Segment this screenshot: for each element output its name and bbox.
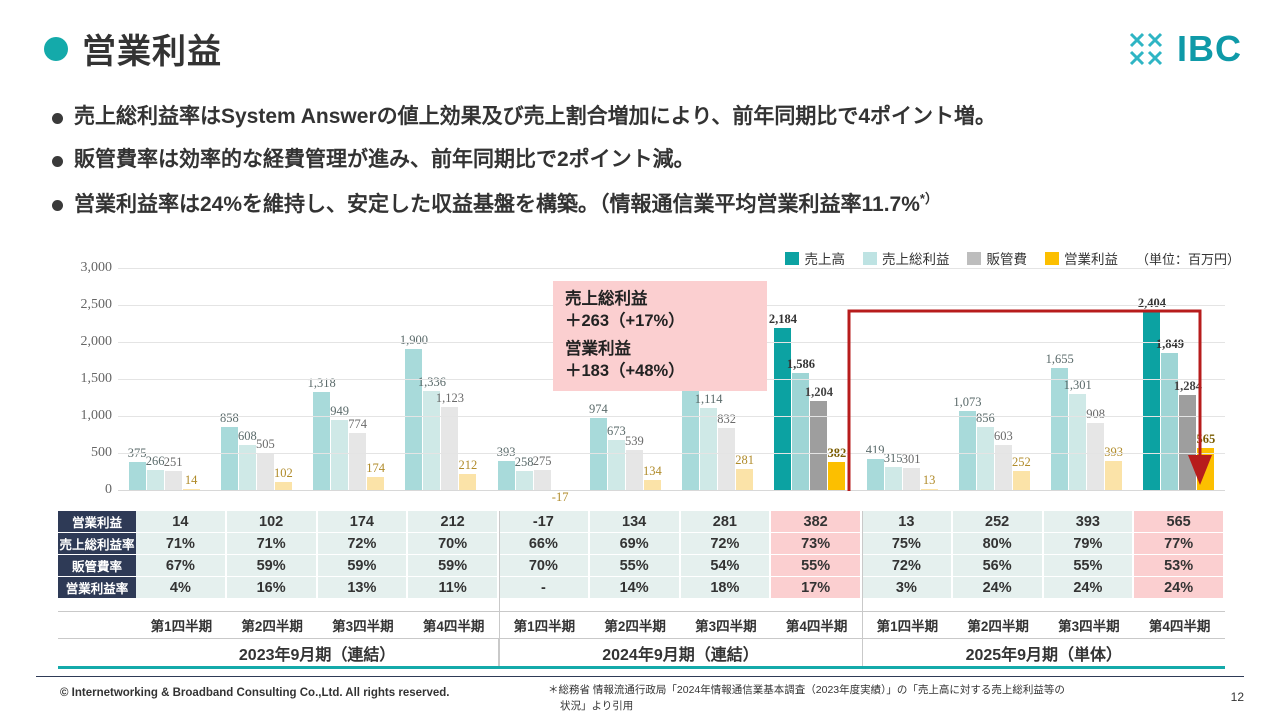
table-row: 営業利益14102174212-1713428138213252393565: [58, 511, 1225, 533]
ibc-logo-mark-icon: [1123, 26, 1169, 72]
bar-value-label: 13: [923, 473, 936, 488]
bar-営業利益[interactable]: 134: [644, 480, 661, 490]
logo-text: IBC: [1177, 28, 1242, 70]
gridline: [118, 416, 1225, 417]
page-title: 営業利益: [44, 24, 222, 73]
table-cell: 71%: [136, 533, 227, 555]
bar-営業利益[interactable]: 212: [459, 474, 476, 490]
fiscal-period-label: 2023年9月期（連結）: [136, 639, 499, 667]
legend-swatch-sga: [967, 252, 981, 265]
table-row: 営業利益率4%16%13%11%-14%18%17%3%24%24%24%: [58, 577, 1225, 599]
table-cell: 56%: [953, 555, 1044, 577]
bar-販管費[interactable]: 1,123: [441, 407, 458, 490]
table-row-header: 営業利益: [58, 511, 136, 533]
quarter-label: 第2四半期: [227, 612, 318, 638]
quarter-label: 第2四半期: [953, 612, 1044, 638]
legend-swatch-operating-profit: [1045, 252, 1059, 265]
table-cell: 59%: [227, 555, 318, 577]
y-axis-tick: 2,000: [81, 334, 113, 350]
table-cell: 18%: [681, 577, 772, 599]
bar-value-label: 1,123: [436, 391, 464, 406]
bullet-item-1: 売上総利益率はSystem Answerの値上効果及び売上割合増加により、前年同…: [52, 104, 1252, 130]
quarter-label: 第4四半期: [408, 612, 499, 638]
table-cell: 53%: [1134, 555, 1225, 577]
y-axis-tick: 1,000: [81, 408, 113, 424]
bar-value-label: 603: [994, 429, 1013, 444]
table-cell: 66%: [499, 533, 590, 555]
table-cell: 13%: [318, 577, 409, 599]
axis-baseline: [58, 666, 1225, 669]
bullet-text-3: 営業利益率は24%を維持し、安定した収益基盤を構築。（情報通信業平均営業利益率1…: [74, 191, 938, 218]
bar-売上総利益[interactable]: 258: [516, 471, 533, 490]
bar-value-label: 275: [533, 454, 552, 469]
legend-item-gross-profit: 売上総利益: [863, 248, 950, 268]
bar-売上総利益[interactable]: 673: [608, 440, 625, 490]
callout-line-1: 売上総利益: [565, 288, 755, 310]
bar-value-label: 1,849: [1156, 337, 1184, 352]
bar-売上高[interactable]: 1,073: [959, 411, 976, 490]
bar-売上総利益[interactable]: 1,114: [700, 408, 717, 490]
table-cell: 67%: [136, 555, 227, 577]
table-cell: 75%: [862, 533, 953, 555]
table-cell: 79%: [1044, 533, 1135, 555]
bar-販管費[interactable]: 251: [165, 471, 182, 490]
table-cell: 382: [771, 511, 862, 533]
bar-value-label: 774: [348, 417, 367, 432]
bar-営業利益[interactable]: 14: [183, 489, 200, 491]
page-number: 12: [1231, 690, 1244, 704]
period-axis: 第1四半期第2四半期第3四半期第4四半期第1四半期第2四半期第3四半期第4四半期…: [58, 611, 1225, 667]
bullet-dot-icon: [52, 200, 63, 211]
bar-営業利益[interactable]: 174: [367, 477, 384, 490]
bar-value-label: 539: [625, 434, 644, 449]
bar-営業利益[interactable]: 281: [736, 469, 753, 490]
bullet-dot-icon: [52, 156, 63, 167]
quarter-label: 第1四半期: [136, 612, 227, 638]
table-cell: 4%: [136, 577, 227, 599]
quarter-label: 第1四半期: [499, 612, 590, 638]
bar-value-label: 832: [717, 412, 736, 427]
bar-value-label: 174: [366, 461, 385, 476]
bullet-item-2: 販管費率は効率的な経費管理が進み、前年同期比で2ポイント減。: [52, 147, 1252, 173]
table-cell: 55%: [771, 555, 862, 577]
bar-営業利益[interactable]: 393: [1105, 461, 1122, 490]
table-cell: 59%: [318, 555, 409, 577]
table-cell: 80%: [953, 533, 1044, 555]
source-note: ＊総務省 情報流通行政局「2024年情報通信業基本調査（2023年度実績）」の「…: [548, 683, 1178, 715]
table-cell: -17: [499, 511, 590, 533]
bar-value-label: 419: [866, 443, 885, 458]
bar-売上高[interactable]: 1,318: [313, 392, 330, 490]
quarter-label-row: 第1四半期第2四半期第3四半期第4四半期第1四半期第2四半期第3四半期第4四半期…: [58, 611, 1225, 638]
table-cell: 102: [227, 511, 318, 533]
y-axis-tick: 0: [105, 482, 112, 498]
table-cell: 72%: [681, 533, 772, 555]
table-cell: 393: [1044, 511, 1135, 533]
bar-value-label: 565: [1197, 432, 1216, 447]
bullet-text-2: 販管費率は効率的な経費管理が進み、前年同期比で2ポイント減。: [74, 147, 695, 173]
bar-売上高[interactable]: 2,184: [774, 328, 791, 490]
bar-売上総利益[interactable]: 608: [239, 445, 256, 490]
callout-line-4: ＋183（+48%）: [565, 360, 755, 382]
bar-value-label: 1,586: [787, 357, 815, 372]
bar-value-label: 505: [256, 437, 275, 452]
bar-売上総利益[interactable]: 1,301: [1069, 394, 1086, 490]
table-row: 販管費率67%59%59%59%70%55%54%55%72%56%55%53%: [58, 555, 1225, 577]
quarter-label: 第3四半期: [1044, 612, 1135, 638]
table-cell: 72%: [318, 533, 409, 555]
table-row: 売上総利益率71%71%72%70%66%69%72%73%75%80%79%7…: [58, 533, 1225, 555]
source-note-line-1: ＊総務省 情報流通行政局「2024年情報通信業基本調査（2023年度実績）」の「…: [548, 683, 1178, 699]
bar-value-label: 212: [459, 458, 478, 473]
table-cell: 14: [136, 511, 227, 533]
y-axis-tick: 2,500: [81, 297, 113, 313]
table-cell: 77%: [1134, 533, 1225, 555]
bar-売上高[interactable]: 1,900: [405, 349, 422, 490]
table-cell: 70%: [408, 533, 499, 555]
callout-line-2: ＋263（+17%）: [565, 310, 755, 332]
legend-label-gross-profit: 売上総利益: [882, 248, 950, 268]
table-cell: 72%: [862, 555, 953, 577]
bar-販管費[interactable]: 832: [718, 428, 735, 490]
y-axis-tick: 1,500: [81, 371, 113, 387]
table-cell: 73%: [771, 533, 862, 555]
quarter-label: 第4四半期: [771, 612, 862, 638]
bullet-dot-icon: [52, 113, 63, 124]
bar-売上総利益[interactable]: 1,336: [423, 391, 440, 490]
period-separator: [862, 511, 863, 666]
bar-営業利益[interactable]: 13: [921, 489, 938, 491]
bar-value-label: 134: [643, 464, 662, 479]
quarter-label: 第2四半期: [590, 612, 681, 638]
table-cell: 70%: [499, 555, 590, 577]
bullet-text-3-superscript: *）: [920, 191, 938, 206]
footer-divider: [36, 676, 1244, 677]
table-cell: 71%: [227, 533, 318, 555]
table-cell: 13: [862, 511, 953, 533]
legend-label-operating-profit: 営業利益: [1064, 248, 1118, 268]
bar-value-label: 258: [515, 455, 534, 470]
table-row-header: 販管費率: [58, 555, 136, 577]
legend-item-sales: 売上高: [785, 248, 845, 268]
table-cell: 174: [318, 511, 409, 533]
bar-value-label: 1,073: [953, 395, 981, 410]
table-cell: 212: [408, 511, 499, 533]
table-cell: 3%: [862, 577, 953, 599]
bar-value-label: 1,204: [805, 385, 833, 400]
callout-box: 売上総利益 ＋263（+17%） 営業利益 ＋183（+48%）: [553, 281, 767, 391]
legend-swatch-gross-profit: [863, 252, 877, 265]
bar-営業利益[interactable]: 382: [828, 462, 845, 490]
quarter-label: 第4四半期: [1134, 612, 1225, 638]
bar-value-label: 1,655: [1046, 352, 1074, 367]
legend-swatch-sales: [785, 252, 799, 265]
title-text: 営業利益: [82, 24, 222, 73]
fiscal-period-label: 2025年9月期（単体）: [863, 639, 1225, 667]
period-separator: [499, 511, 500, 666]
source-note-line-2: 状況」より引用: [548, 699, 1178, 715]
bar-販管費[interactable]: 1,284: [1179, 395, 1196, 490]
bar-販管費[interactable]: 505: [257, 453, 274, 490]
bar-営業利益[interactable]: 102: [275, 482, 292, 490]
table-cell: 24%: [1044, 577, 1135, 599]
bar-value-label: 1,900: [400, 333, 428, 348]
table-row-header: 売上総利益率: [58, 533, 136, 555]
bar-売上総利益[interactable]: 856: [977, 427, 994, 490]
bar-売上高[interactable]: 858: [221, 427, 238, 490]
bar-営業利益[interactable]: 565: [1197, 448, 1214, 490]
bar-販管費[interactable]: 1,204: [810, 401, 827, 490]
table-cell: 281: [681, 511, 772, 533]
table-cell: 252: [953, 511, 1044, 533]
table-cell: 565: [1134, 511, 1225, 533]
bar-value-label: 974: [589, 402, 608, 417]
quarter-label: 第3四半期: [318, 612, 409, 638]
bar-value-label: 252: [1012, 455, 1031, 470]
legend-unit-label: （単位：百万円）: [1136, 249, 1240, 268]
bar-value-label: 856: [976, 411, 995, 426]
bullet-item-3: 営業利益率は24%を維持し、安定した収益基盤を構築。（情報通信業平均営業利益率1…: [52, 191, 1252, 218]
copyright-text: © Internetworking & Broadband Consulting…: [60, 687, 450, 699]
bullet-list: 売上総利益率はSystem Answerの値上効果及び売上割合増加により、前年同…: [52, 104, 1252, 235]
table-cell: 55%: [1044, 555, 1135, 577]
bullet-text-3-main: 営業利益率は24%を維持し、安定した収益基盤を構築。（情報通信業平均営業利益率1…: [74, 193, 920, 216]
bar-value-label: -17: [552, 490, 569, 505]
bar-value-label: 2,404: [1138, 296, 1166, 311]
chart-legend: 売上高 売上総利益 販管費 営業利益 （単位：百万円）: [785, 248, 1240, 268]
bar-value-label: 1,284: [1174, 379, 1202, 394]
bar-販管費[interactable]: 539: [626, 450, 643, 490]
bar-営業利益[interactable]: -17: [552, 489, 569, 490]
bar-value-label: 673: [607, 424, 626, 439]
legend-label-sales: 売上高: [804, 248, 845, 268]
table-cell: 17%: [771, 577, 862, 599]
bar-value-label: 608: [238, 429, 257, 444]
table-cell: 54%: [681, 555, 772, 577]
bar-販管費[interactable]: 908: [1087, 423, 1104, 490]
bar-売上総利益[interactable]: 1,849: [1161, 353, 1178, 490]
bar-value-label: 908: [1086, 407, 1105, 422]
bar-value-label: 1,336: [418, 375, 446, 390]
company-logo: IBC: [1123, 26, 1242, 72]
y-axis-tick: 500: [91, 445, 112, 461]
table-cell: 134: [590, 511, 681, 533]
callout-line-3: 営業利益: [565, 338, 755, 360]
gridline: [118, 268, 1225, 269]
table-cell: 55%: [590, 555, 681, 577]
table-row-header: 営業利益率: [58, 577, 136, 599]
quarter-label: 第3四半期: [681, 612, 772, 638]
table-cell: 24%: [953, 577, 1044, 599]
bar-営業利益[interactable]: 252: [1013, 471, 1030, 490]
gridline: [118, 453, 1225, 454]
quarter-label: 第1四半期: [862, 612, 953, 638]
bar-売上総利益[interactable]: 266: [147, 470, 164, 490]
bar-売上高[interactable]: 393: [498, 461, 515, 490]
title-bullet-icon: [44, 37, 68, 61]
bar-value-label: 1,114: [695, 392, 723, 407]
legend-item-sga: 販管費: [967, 248, 1027, 268]
bar-販管費[interactable]: 301: [903, 468, 920, 490]
table-cell: -: [499, 577, 590, 599]
bar-value-label: 281: [735, 453, 754, 468]
legend-label-sga: 販管費: [986, 248, 1027, 268]
bar-販管費[interactable]: 774: [349, 433, 366, 490]
bar-value-label: 266: [146, 454, 165, 469]
bullet-text-1: 売上総利益率はSystem Answerの値上効果及び売上割合増加により、前年同…: [74, 104, 996, 130]
table-cell: 69%: [590, 533, 681, 555]
data-table: 営業利益14102174212-1713428138213252393565売上…: [58, 511, 1225, 599]
bar-value-label: 14: [185, 473, 198, 488]
bar-販管費[interactable]: 275: [534, 470, 551, 490]
bar-売上高[interactable]: 419: [867, 459, 884, 490]
table-cell: 59%: [408, 555, 499, 577]
bar-value-label: 858: [220, 411, 239, 426]
table-cell: 14%: [590, 577, 681, 599]
y-axis: 3,0002,5002,0001,5001,0005000: [60, 268, 112, 490]
table-cell: 16%: [227, 577, 318, 599]
bar-value-label: 2,184: [769, 312, 797, 327]
y-axis-tick: 3,000: [81, 260, 113, 276]
bar-売上高[interactable]: 375: [129, 462, 146, 490]
bar-売上総利益[interactable]: 949: [331, 420, 348, 490]
fiscal-period-label: 2024年9月期（連結）: [499, 639, 862, 667]
bar-value-label: 102: [274, 466, 293, 481]
table-cell: 24%: [1134, 577, 1225, 599]
bar-value-label: 251: [164, 455, 183, 470]
legend-item-operating-profit: 営業利益: [1045, 248, 1118, 268]
bar-売上総利益[interactable]: 315: [885, 467, 902, 490]
fiscal-period-row: 2023年9月期（連結）2024年9月期（連結）2025年9月期（単体）: [58, 638, 1225, 667]
table-cell: 11%: [408, 577, 499, 599]
